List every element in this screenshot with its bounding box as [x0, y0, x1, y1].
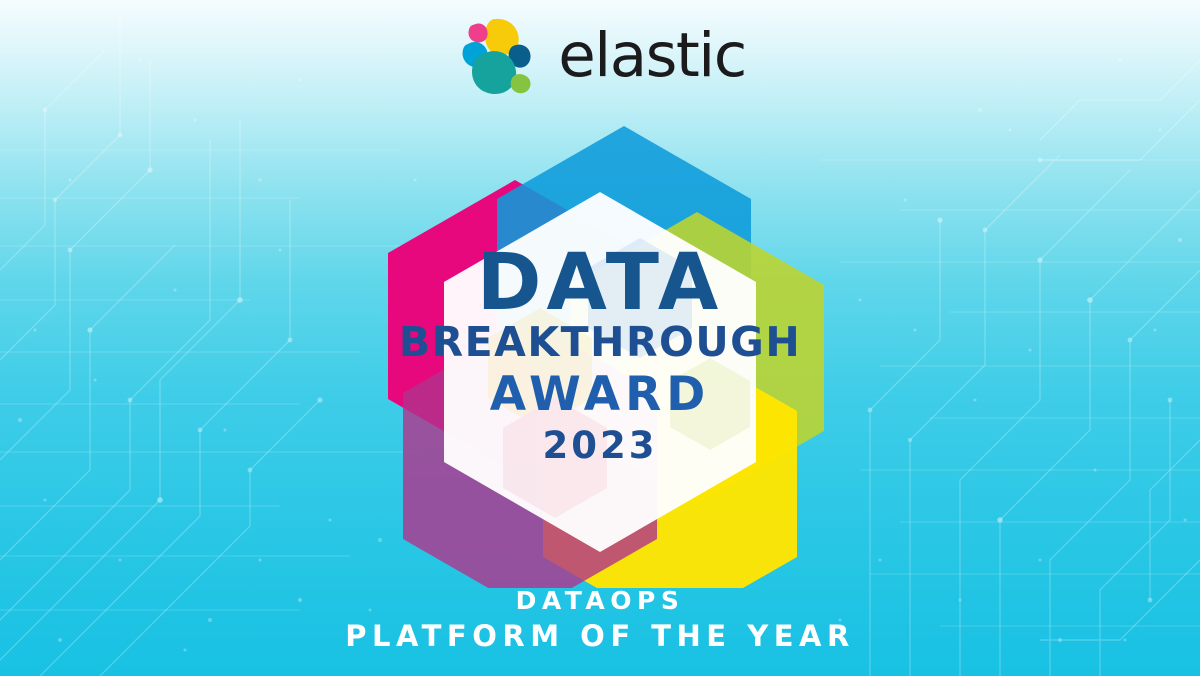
award-badge-hexagons [340, 108, 860, 588]
award-graphic-canvas: elastic [0, 0, 1200, 676]
elastic-brand-lockup: elastic [0, 14, 1200, 100]
caption-title: PLATFORM OF THE YEAR [0, 618, 1200, 654]
elastic-wordmark: elastic [558, 25, 746, 86]
caption-category: DATAOPS [0, 585, 1200, 616]
award-caption: DATAOPS PLATFORM OF THE YEAR [0, 585, 1200, 655]
elastic-logo-icon [454, 14, 540, 100]
